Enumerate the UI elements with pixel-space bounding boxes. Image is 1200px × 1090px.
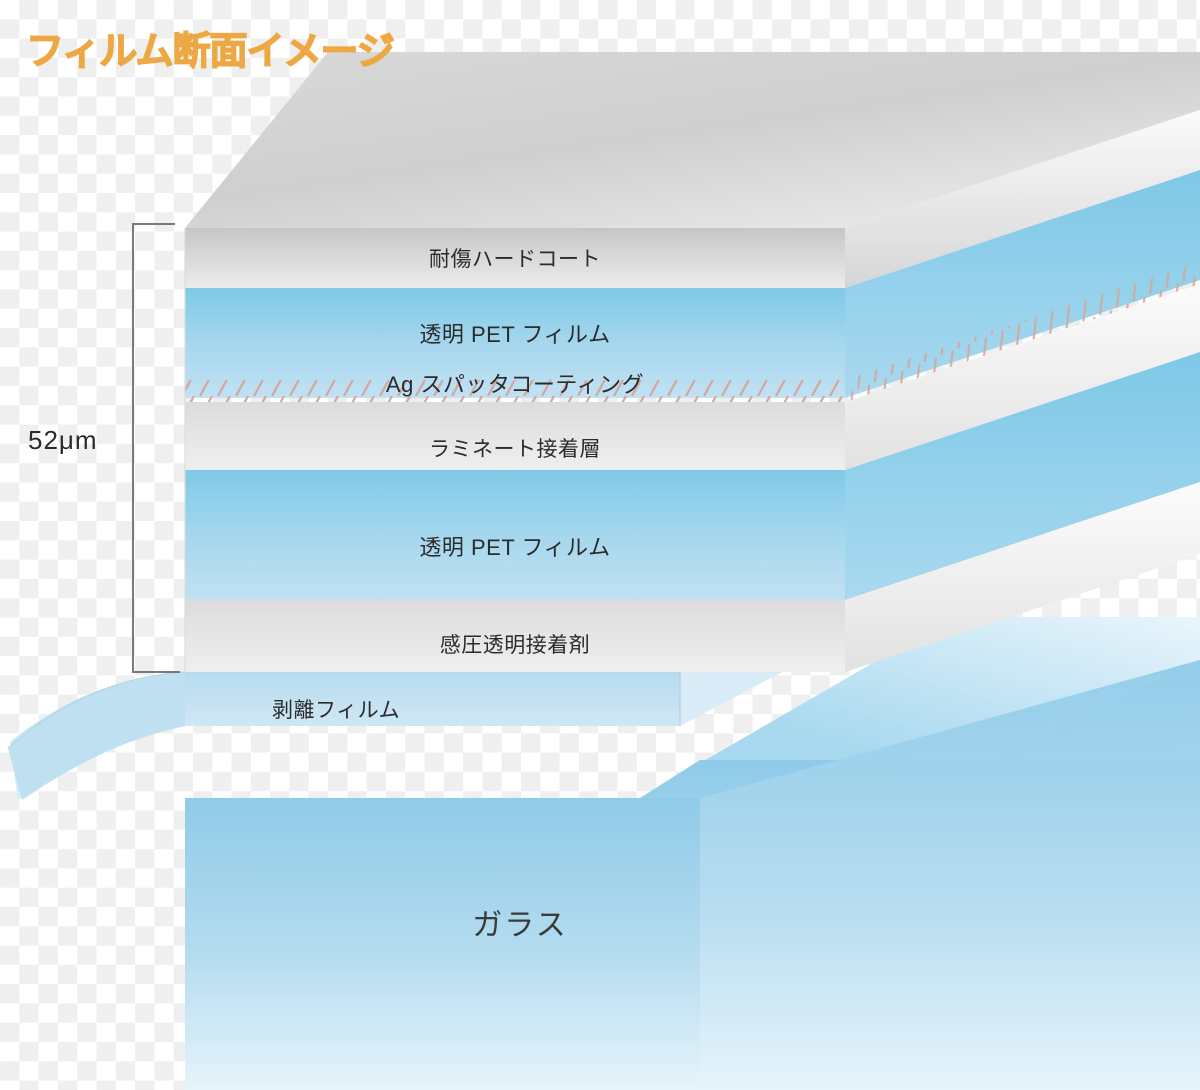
- layer-label-psa-adhesive: 感圧透明接着剤: [185, 629, 845, 659]
- layer-label-pet-film-bottom: 透明 PET フィルム: [185, 530, 845, 562]
- substrate-label-glass: ガラス: [0, 900, 1040, 944]
- layer-label-ag-sputter-coating: Ag スパッタコーティング: [185, 367, 845, 399]
- layer-label-laminate-adhesive: ラミネート接着層: [185, 433, 845, 463]
- thickness-dimension-label: 52μm: [28, 425, 98, 456]
- film-stack-block: [185, 52, 1200, 672]
- thickness-bracket: [133, 224, 180, 672]
- diagram-title: フィルム断面イメージ: [26, 20, 394, 75]
- layer-label-release-film: 剥離フィルム: [272, 694, 400, 724]
- layer-label-hard-coat: 耐傷ハードコート: [185, 243, 845, 273]
- layer-label-pet-film-top: 透明 PET フィルム: [185, 317, 845, 349]
